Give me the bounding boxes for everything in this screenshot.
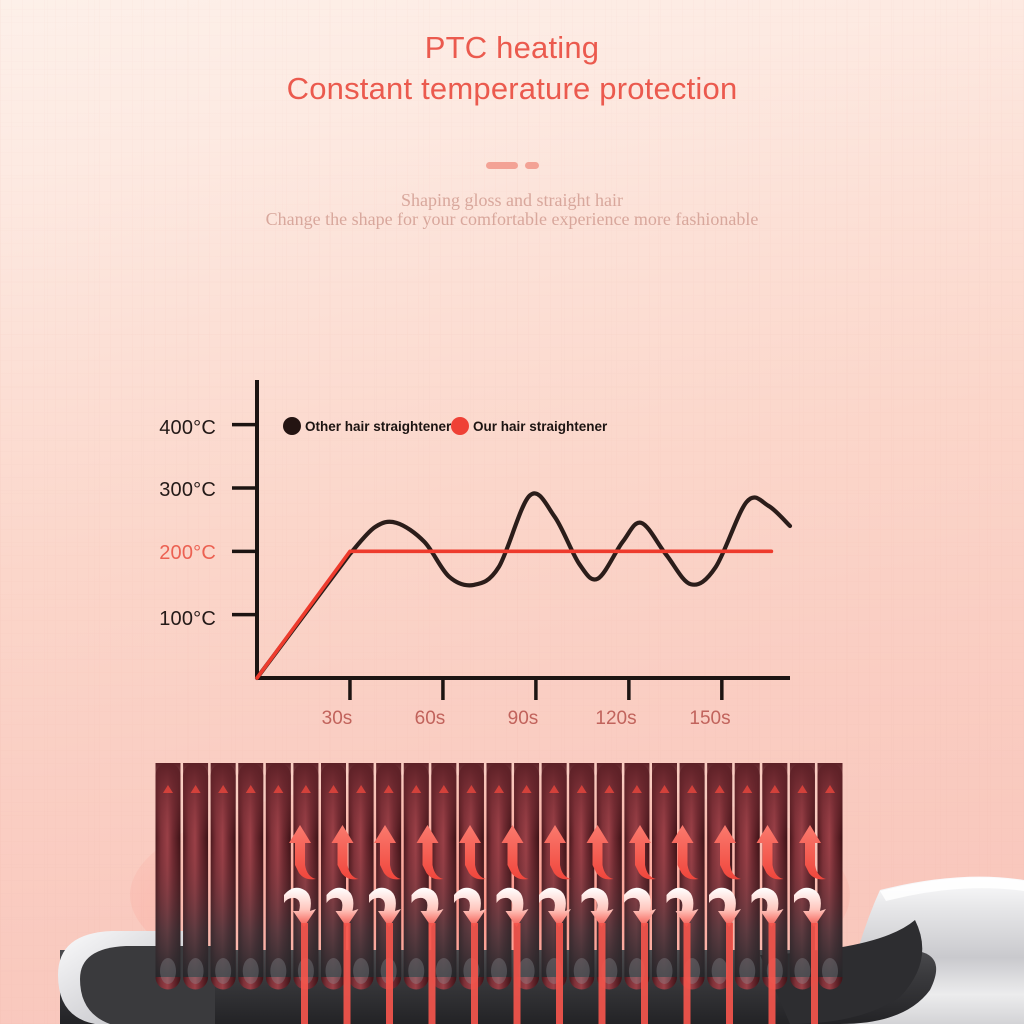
legend-dot-icon-red	[451, 417, 469, 435]
tooth-bottom-highlight	[215, 958, 231, 984]
divider-dash-long	[486, 162, 518, 169]
subtitle-line1: Shaping gloss and straight hair	[0, 190, 1024, 211]
product-infographic-page: PTC heating Constant temperature protect…	[0, 0, 1024, 1024]
comb-tooth-shading	[183, 763, 208, 977]
heat-arrow-streak	[386, 923, 393, 1024]
heat-arrow-streak	[684, 923, 691, 1024]
legend-item-our-hair-straightener: Our hair straightener	[451, 417, 607, 435]
comb-tooth-shading	[735, 763, 760, 977]
x-axis-label-120s: 120s	[581, 708, 651, 730]
legend-label-our: Our hair straightener	[473, 419, 607, 434]
legend-dot-icon-black	[283, 417, 301, 435]
divider-ornament	[0, 162, 1024, 169]
tooth-bottom-highlight	[822, 958, 838, 984]
tooth-bottom-highlight	[436, 958, 452, 984]
tooth-bottom-highlight	[243, 958, 259, 984]
tooth-bottom-highlight	[160, 958, 176, 984]
tooth-bottom-highlight	[353, 958, 369, 984]
product-photo-hair-straightener	[0, 745, 1024, 1024]
legend-item-other-hair-straightener: Other hair straightener	[283, 417, 451, 435]
page-title-line1: PTC heating	[0, 30, 1024, 66]
comb-tooth-shading	[818, 763, 843, 977]
heat-arrow-streak	[556, 923, 563, 1024]
heat-arrow-streak	[514, 923, 521, 1024]
heat-arrow-streak	[641, 923, 648, 1024]
heat-arrow-streak	[301, 923, 308, 1024]
heat-arrow-streak	[726, 923, 733, 1024]
product-illustration	[0, 745, 1024, 1024]
series-line-other-hair-straightener	[257, 493, 790, 678]
x-axis-label-30s: 30s	[302, 708, 372, 730]
comb-tooth-shading	[211, 763, 236, 977]
y-axis-label-300: 300°C	[126, 479, 216, 502]
comb-teeth	[156, 763, 843, 990]
comb-tooth-shading	[156, 763, 181, 977]
comb-tooth-shading	[652, 763, 677, 977]
tooth-bottom-highlight	[712, 958, 728, 984]
page-title-line2: Constant temperature protection	[0, 71, 1024, 107]
tooth-bottom-highlight	[408, 958, 424, 984]
heat-arrow-streak	[429, 923, 436, 1024]
tooth-bottom-highlight	[657, 958, 673, 984]
tooth-bottom-highlight	[326, 958, 342, 984]
tooth-bottom-highlight	[574, 958, 590, 984]
y-axis-label-400: 400°C	[126, 417, 216, 440]
comb-tooth-shading	[266, 763, 291, 977]
tooth-bottom-highlight	[519, 958, 535, 984]
tooth-bottom-highlight	[794, 958, 810, 984]
heat-arrow-streak	[471, 923, 478, 1024]
tooth-bottom-highlight	[739, 958, 755, 984]
y-axis-label-100: 100°C	[126, 608, 216, 631]
divider-dash-short	[525, 162, 539, 169]
tooth-bottom-highlight	[270, 958, 286, 984]
x-axis-label-90s: 90s	[488, 708, 558, 730]
x-axis-label-60s: 60s	[395, 708, 465, 730]
heat-arrow-streak	[811, 923, 818, 1024]
heat-arrow-streak	[344, 923, 351, 1024]
comb-tooth-shading	[487, 763, 512, 977]
x-axis-label-150s: 150s	[675, 708, 745, 730]
comb-tooth-shading	[349, 763, 374, 977]
y-axis-label-200: 200°C	[126, 542, 216, 565]
heat-arrow-streak	[769, 923, 776, 1024]
chart-x-ticks	[350, 678, 722, 700]
legend-label-other: Other hair straightener	[305, 419, 451, 434]
subtitle-line2: Change the shape for your comfortable ex…	[0, 209, 1024, 230]
comb-tooth-shading	[569, 763, 594, 977]
chart-y-ticks	[232, 425, 257, 615]
comb-tooth-shading	[238, 763, 263, 977]
heat-arrow-streak	[599, 923, 606, 1024]
tooth-bottom-highlight	[491, 958, 507, 984]
tooth-bottom-highlight	[188, 958, 204, 984]
series-line-our-hair-straightener	[257, 551, 771, 678]
